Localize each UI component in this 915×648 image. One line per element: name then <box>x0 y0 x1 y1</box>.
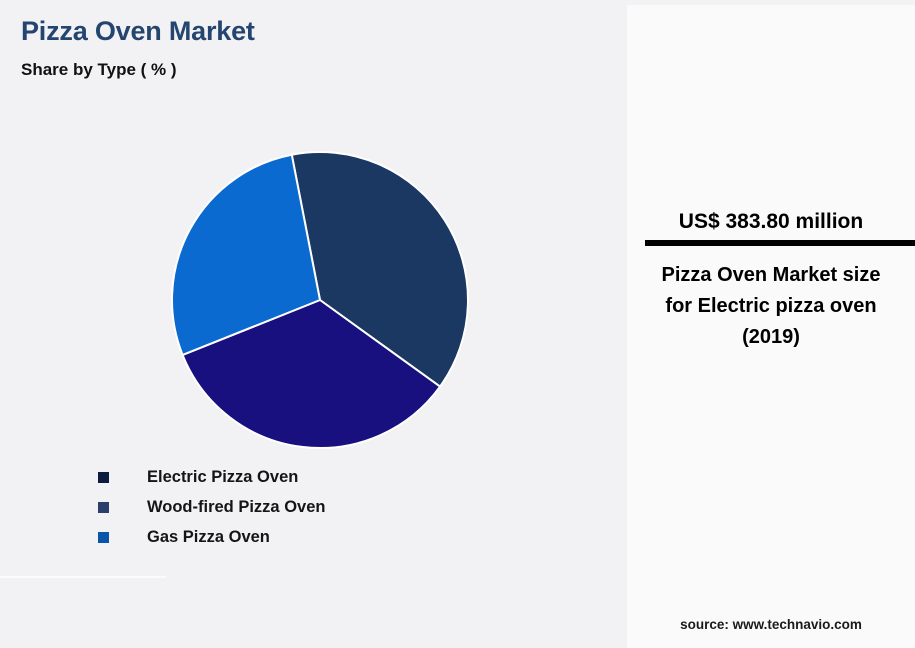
page-subtitle: Share by Type ( % ) <box>21 60 177 80</box>
chart-legend: Electric Pizza Oven Wood-fired Pizza Ove… <box>98 462 518 552</box>
legend-label-electric: Electric Pizza Oven <box>147 468 298 487</box>
legend-item-electric[interactable]: Electric Pizza Oven <box>98 462 518 492</box>
callout-description: Pizza Oven Market size for Electric pizz… <box>627 260 915 353</box>
pie-chart <box>170 150 470 450</box>
source-note: source: www.technavio.com <box>627 617 915 632</box>
callout-panel: US$ 383.80 million Pizza Oven Market siz… <box>627 5 915 648</box>
callout-value: US$ 383.80 million <box>627 210 915 240</box>
chart-page: Pizza Oven Market Share by Type ( % ) El… <box>0 0 915 648</box>
legend-label-gas: Gas Pizza Oven <box>147 528 270 547</box>
legend-swatch-wood-fired <box>98 502 109 513</box>
callout-divider <box>645 240 915 246</box>
callout-block: US$ 383.80 million Pizza Oven Market siz… <box>627 210 915 353</box>
page-title: Pizza Oven Market <box>21 16 255 47</box>
legend-item-wood-fired[interactable]: Wood-fired Pizza Oven <box>98 492 518 522</box>
legend-swatch-electric <box>98 472 109 483</box>
pie-chart-svg <box>170 150 470 450</box>
legend-swatch-gas <box>98 532 109 543</box>
legend-item-gas[interactable]: Gas Pizza Oven <box>98 522 518 552</box>
chart-panel: Pizza Oven Market Share by Type ( % ) El… <box>0 0 627 648</box>
bottom-divider <box>0 576 166 578</box>
legend-label-wood-fired: Wood-fired Pizza Oven <box>147 498 325 517</box>
